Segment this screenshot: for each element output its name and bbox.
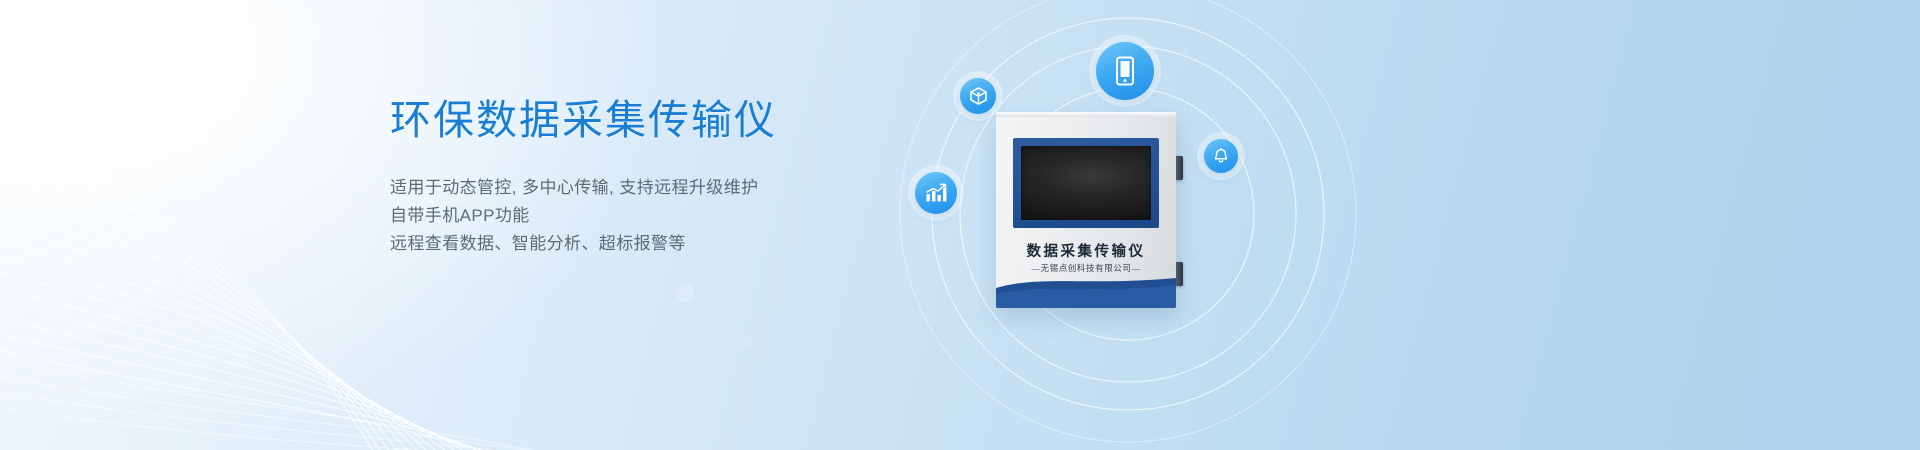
decorative-bubble [676, 284, 694, 302]
badge-mobile-phone[interactable] [1096, 42, 1154, 100]
device-enclosure: 数据采集传输仪 —无锡点创科技有限公司— [996, 112, 1176, 308]
badge-alarm-bell[interactable] [1204, 139, 1238, 173]
device-side-latch-bottom [1175, 262, 1183, 286]
cube-box-icon [970, 87, 987, 105]
decorative-bubble [742, 336, 752, 346]
device-top-edge [996, 112, 1176, 117]
bar-chart-icon [925, 183, 947, 203]
product-device: 数据采集传输仪 —无锡点创科技有限公司— [996, 112, 1176, 308]
alarm-bell-icon [1213, 148, 1229, 165]
device-screen [1021, 146, 1151, 220]
product-hero-banner: 环保数据采集传输仪 适用于动态管控, 多中心传输, 支持远程升级维护 自带手机A… [0, 0, 1920, 450]
device-side-latch-top [1175, 156, 1183, 180]
device-brand-label: 数据采集传输仪 [996, 240, 1176, 261]
device-wave-band [996, 272, 1176, 308]
badge-cube-box[interactable] [960, 78, 996, 114]
mobile-phone-icon [1114, 56, 1136, 86]
badge-bar-chart[interactable] [915, 172, 957, 214]
product-visual: 数据采集传输仪 —无锡点创科技有限公司— [860, 0, 1920, 450]
device-screen-bezel [1013, 138, 1159, 228]
